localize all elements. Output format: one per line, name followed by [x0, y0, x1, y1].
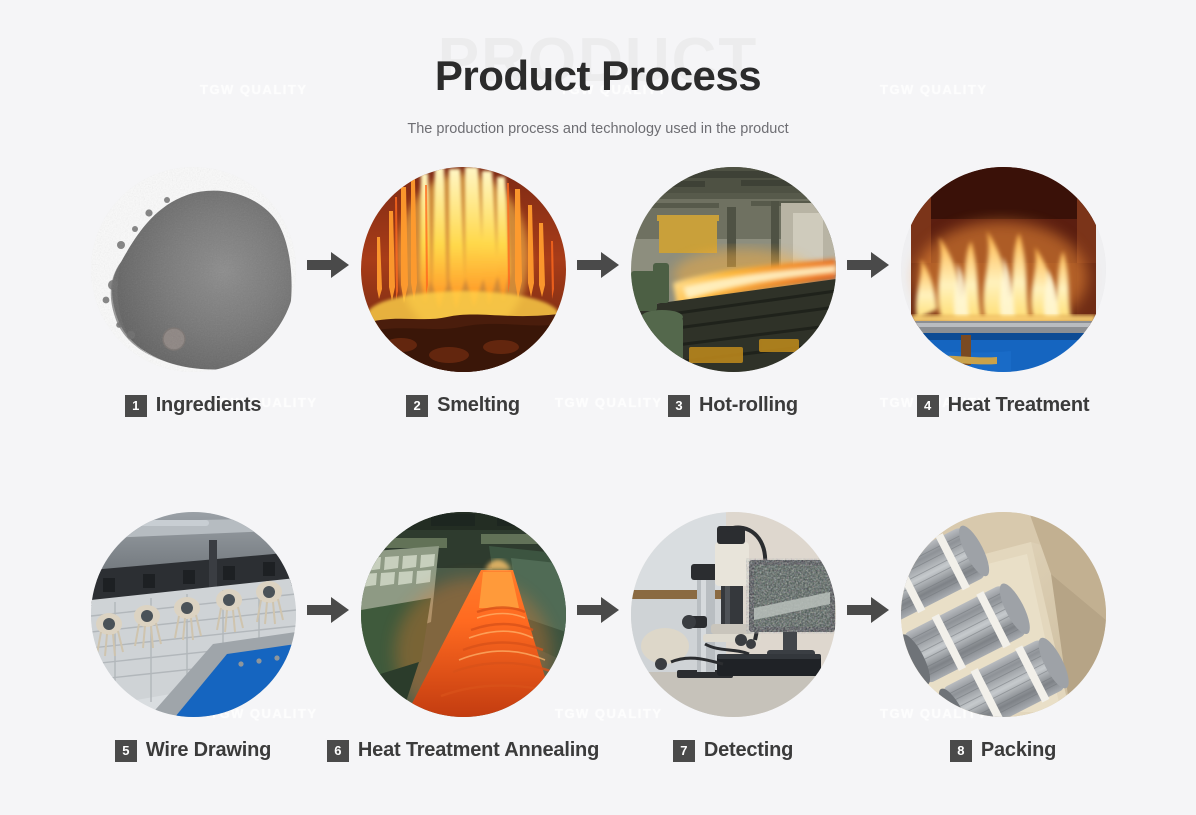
step-label: Hot-rolling: [699, 394, 798, 417]
hot-rolling-mill-photo: [631, 167, 836, 372]
step-caption: 3 Hot-rolling: [668, 394, 798, 417]
process-step-6[interactable]: 6 Heat Treatment Annealing: [359, 512, 567, 762]
step-caption: 7 Detecting: [673, 739, 793, 762]
wire-drawing-machine-photo: [91, 512, 296, 717]
step-caption: 5 Wire Drawing: [115, 739, 271, 762]
arrow-right-icon: [567, 251, 629, 279]
page-title: Product Process: [0, 52, 1196, 100]
process-row-1: 1 Ingredients: [0, 167, 1196, 417]
step-caption: 1 Ingredients: [125, 394, 262, 417]
step-number-badge: 8: [950, 740, 972, 762]
ingredients-powder-photo: [91, 167, 296, 372]
step-number-badge: 1: [125, 395, 147, 417]
step-number-badge: 3: [668, 395, 690, 417]
arrow-right-icon: [567, 596, 629, 624]
step-caption: 2 Smelting: [406, 394, 520, 417]
step-caption: 6 Heat Treatment Annealing: [327, 739, 599, 762]
process-step-4[interactable]: 4 Heat Treatment: [899, 167, 1107, 417]
annealing-line-photo: [361, 512, 566, 717]
smelting-molten-metal-photo: [361, 167, 566, 372]
step-label: Detecting: [704, 739, 793, 762]
step-number-badge: 4: [917, 395, 939, 417]
process-step-5[interactable]: 5 Wire Drawing: [89, 512, 297, 762]
page-header: Product Process The production process a…: [0, 0, 1196, 137]
arrow-right-icon: [297, 251, 359, 279]
step-number-badge: 2: [406, 395, 428, 417]
process-step-7[interactable]: 7 Detecting: [629, 512, 837, 762]
step-label: Ingredients: [156, 394, 262, 417]
step-label: Heat Treatment: [948, 394, 1090, 417]
process-step-2[interactable]: 2 Smelting: [359, 167, 567, 417]
step-number-badge: 5: [115, 740, 137, 762]
arrow-right-icon: [837, 251, 899, 279]
step-number-badge: 6: [327, 740, 349, 762]
step-label: Heat Treatment Annealing: [358, 739, 599, 762]
detecting-microscope-photo: [631, 512, 836, 717]
step-caption: 8 Packing: [950, 739, 1056, 762]
heat-treatment-furnace-photo: [901, 167, 1106, 372]
arrow-right-icon: [837, 596, 899, 624]
process-step-1[interactable]: 1 Ingredients: [89, 167, 297, 417]
process-row-2: 5 Wire Drawing: [0, 512, 1196, 762]
process-step-3[interactable]: 3 Hot-rolling: [629, 167, 837, 417]
step-label: Wire Drawing: [146, 739, 271, 762]
page-subtitle: The production process and technology us…: [0, 121, 1196, 137]
step-label: Packing: [981, 739, 1056, 762]
process-flow: 1 Ingredients: [0, 167, 1196, 762]
packing-wire-coils-photo: [901, 512, 1106, 717]
process-step-8[interactable]: 8 Packing: [899, 512, 1107, 762]
arrow-right-icon: [297, 596, 359, 624]
step-label: Smelting: [437, 394, 520, 417]
step-number-badge: 7: [673, 740, 695, 762]
step-caption: 4 Heat Treatment: [917, 394, 1090, 417]
